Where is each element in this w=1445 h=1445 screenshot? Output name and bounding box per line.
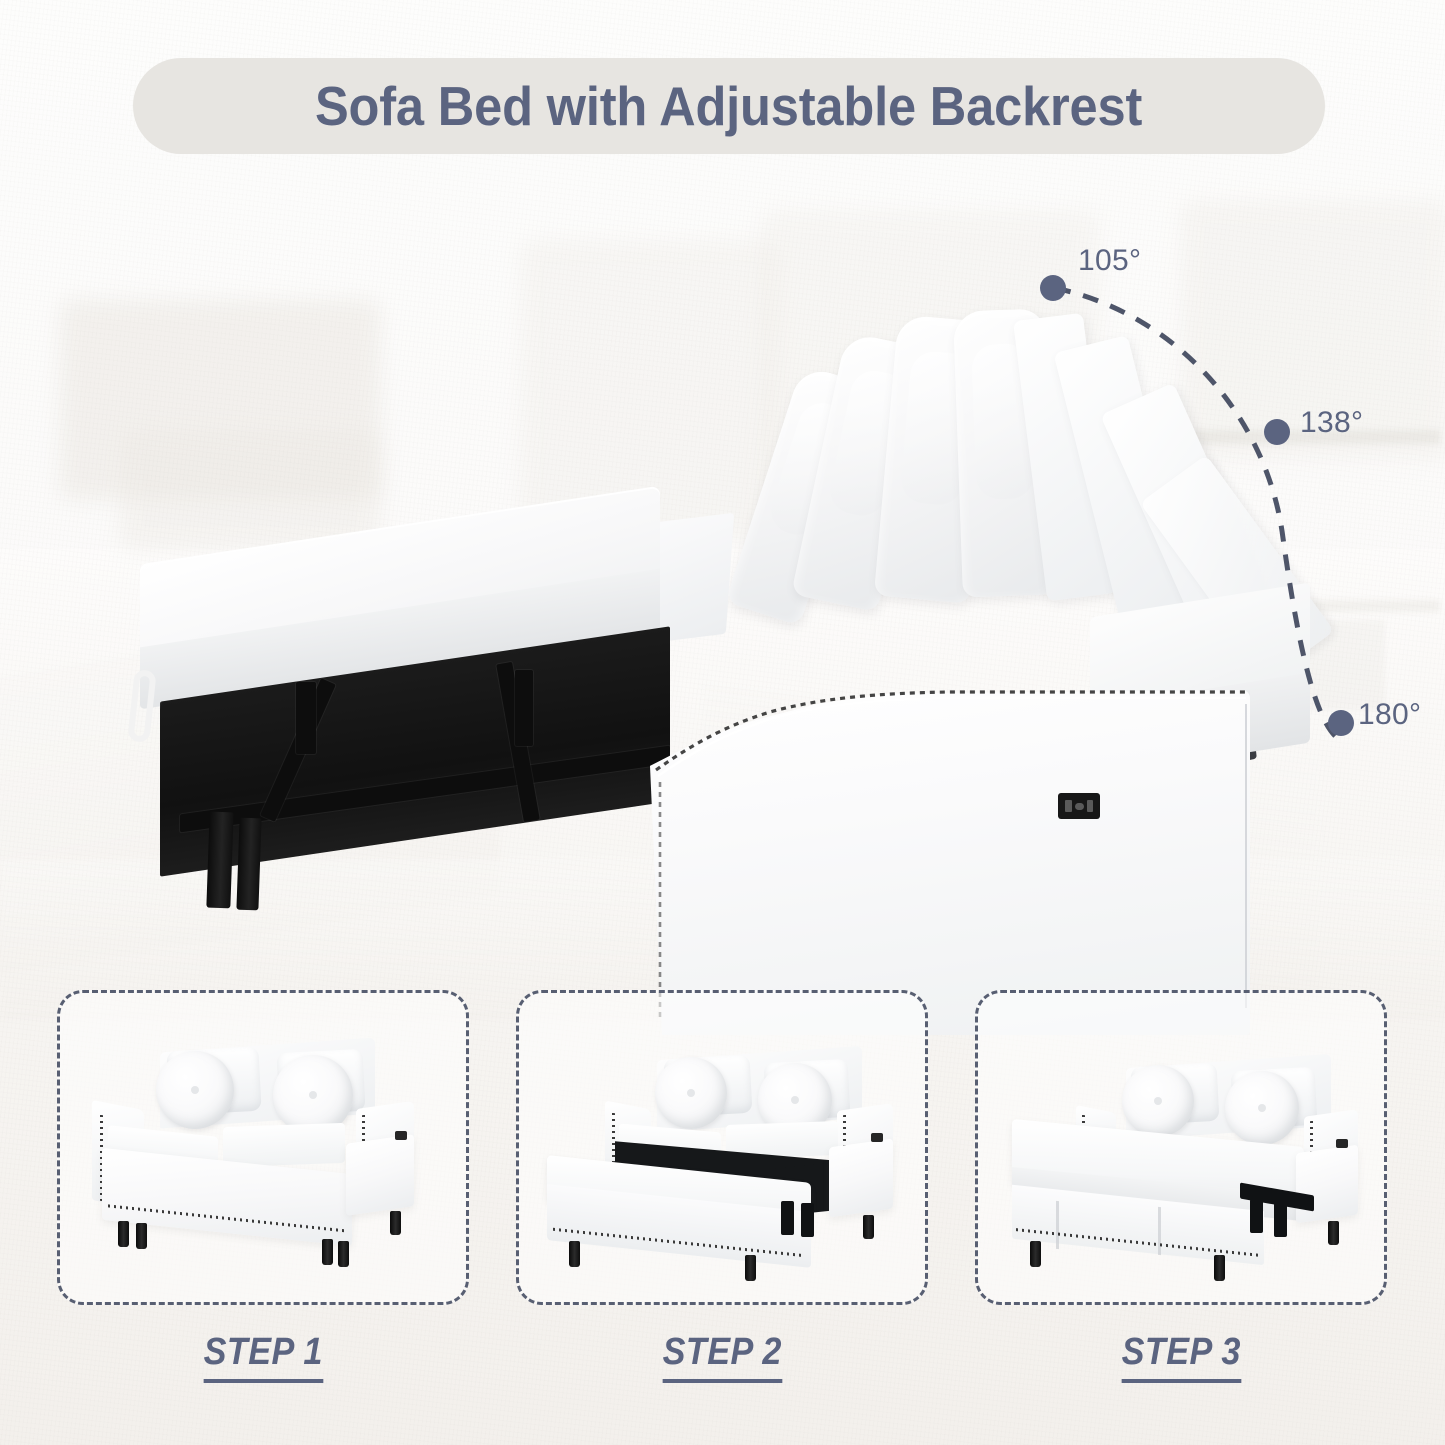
frame-leg-left: [206, 812, 233, 909]
mini-bolster-left: [655, 1057, 727, 1129]
armrest-side-panel: [650, 690, 1250, 1035]
angle-label-138: 138°: [1300, 406, 1363, 440]
mini-side-handle: [1336, 1139, 1348, 1148]
page-title: Sofa Bed with Adjustable Backrest: [315, 74, 1142, 138]
frame-bracket-right: [515, 670, 533, 746]
angle-dot-105: [1040, 275, 1066, 301]
step-2: STEP 2: [516, 990, 928, 1383]
mini-leg-2: [1214, 1255, 1225, 1281]
mini-leg-3: [322, 1239, 333, 1265]
step-2-frame: [516, 990, 928, 1305]
step-3: STEP 3: [975, 990, 1387, 1383]
mini-leg-3: [1328, 1221, 1339, 1245]
step-3-frame: [975, 990, 1387, 1305]
mini-bolster-right: [1225, 1071, 1299, 1145]
step-3-label: STEP 3: [1121, 1331, 1240, 1383]
step-1-frame: [57, 990, 469, 1305]
step-2-label: STEP 2: [662, 1331, 781, 1383]
usb-c-slot: [1075, 803, 1084, 810]
angle-dot-138: [1264, 419, 1290, 445]
mini-mechanism-leg-1: [781, 1201, 794, 1235]
mini-mechanism-leg-2: [801, 1203, 814, 1237]
mini-leg-3: [863, 1215, 874, 1239]
hero-product-image: 105° 138° 180°: [0, 170, 1445, 970]
mini-leg-5: [390, 1211, 401, 1235]
step-3-label-wrap: STEP 3: [975, 1331, 1387, 1383]
page-title-pill: Sofa Bed with Adjustable Backrest: [133, 58, 1325, 154]
step-1-label-wrap: STEP 1: [57, 1331, 469, 1383]
mini-leg-2: [745, 1255, 756, 1281]
mini-mechanism-leg-1: [1250, 1199, 1263, 1233]
mini-base-side: [1296, 1145, 1358, 1224]
mini-bolster-left: [156, 1051, 234, 1129]
step-1: STEP 1: [57, 990, 469, 1383]
mini-leg-1: [569, 1241, 580, 1267]
angle-dot-180: [1328, 710, 1354, 736]
angle-label-180: 180°: [1358, 698, 1421, 732]
step-1-label: STEP 1: [203, 1331, 322, 1383]
mini-side-handle: [871, 1133, 883, 1142]
mini-leg-4: [338, 1241, 349, 1267]
mini-leg-1: [1030, 1241, 1041, 1267]
frame-leg-left-2: [236, 818, 261, 911]
mini-base-side: [829, 1139, 893, 1218]
frame-bracket-left: [296, 682, 316, 754]
infographic-canvas: Sofa Bed with Adjustable Backrest: [0, 0, 1445, 1445]
step-2-label-wrap: STEP 2: [516, 1331, 928, 1383]
angle-label-105: 105°: [1078, 244, 1141, 278]
mini-skirt-pleat-1: [1056, 1201, 1059, 1249]
mini-seat-cushion-right: [223, 1123, 345, 1167]
mini-mechanism-leg-2: [1274, 1203, 1287, 1237]
mini-base-side: [346, 1134, 414, 1216]
mini-bolster-left: [1122, 1065, 1194, 1137]
mini-side-handle: [395, 1131, 407, 1140]
usb-charging-port-icon[interactable]: [1058, 793, 1100, 819]
usb-a-slot: [1065, 800, 1072, 812]
pull-strap-handle: [127, 669, 156, 743]
mini-skirt-pleat-2: [1158, 1207, 1161, 1255]
usb-b-slot: [1087, 800, 1093, 812]
mini-leg-1: [118, 1221, 129, 1247]
steps-section: STEP 1: [0, 990, 1445, 1445]
mini-leg-2: [136, 1223, 147, 1249]
